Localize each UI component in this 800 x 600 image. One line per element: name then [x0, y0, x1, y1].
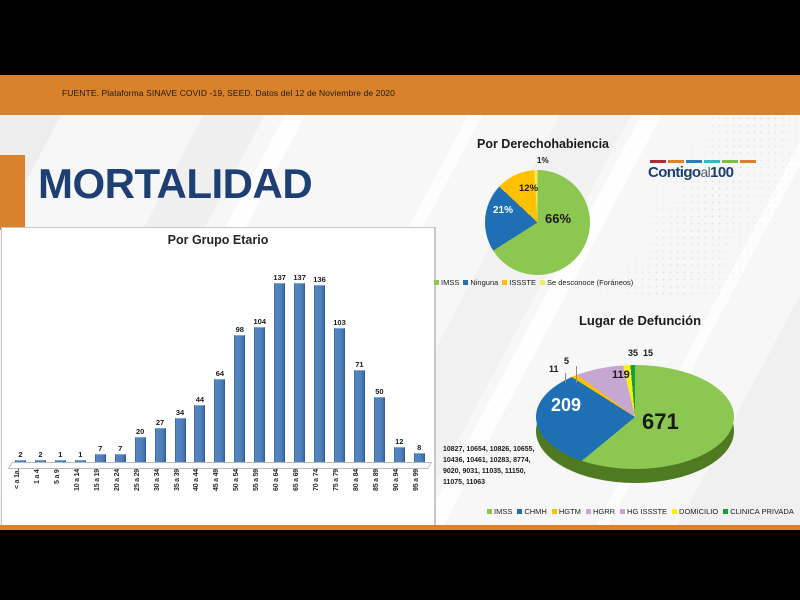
bar-column: 64 [213, 263, 226, 463]
logo-dash [668, 160, 684, 163]
legend-label: IMSS [441, 278, 459, 287]
bar-value-label: 27 [156, 418, 164, 427]
pie1-label-desconoce: 1% [537, 156, 549, 165]
bar-value-label: 44 [196, 395, 204, 404]
derechohabiencia-legend-item: Ninguna [463, 278, 498, 287]
bar-chart-title: Por Grupo Etario [2, 233, 434, 247]
pie1-label-imss: 66% [545, 211, 571, 226]
bar-x-label: 95 a 99 [413, 469, 426, 523]
bar-rect [394, 447, 405, 463]
lugar-defuncion-legend-item: CLINICA PRIVADA [723, 507, 794, 516]
bar-rect [354, 370, 365, 463]
bar-column: 2 [34, 263, 47, 463]
bar-column: 71 [353, 263, 366, 463]
bar-rect [234, 335, 245, 463]
legend-label: HGTM [559, 507, 581, 516]
bar-value-label: 8 [417, 443, 421, 452]
logo-dash [740, 160, 756, 163]
bar-column: 137 [273, 263, 286, 463]
bar-rect [214, 379, 225, 463]
bar-column: 98 [233, 263, 246, 463]
bar-x-label: 70 a 74 [313, 469, 326, 523]
bar-x-label: 40 a 44 [193, 469, 206, 523]
bar-column: 137 [293, 263, 306, 463]
bar-x-label: 25 a 29 [134, 469, 147, 523]
bar-value-label: 137 [273, 273, 286, 282]
bar-value-label: 20 [136, 427, 144, 436]
pie2-label-domicilio: 35 [628, 348, 638, 358]
bar-value-label: 50 [375, 387, 383, 396]
bar-x-label: 20 a 24 [114, 469, 127, 523]
bar-rect [155, 428, 166, 463]
bar-value-label: 2 [18, 450, 22, 459]
lugar-defuncion-annotation: 10827, 10654, 10826, 10655, 10436, 10461… [443, 445, 548, 488]
legend-swatch-icon [586, 509, 591, 514]
derechohabiencia-legend-item: Se desconoce (Foráneos) [540, 278, 633, 287]
legend-swatch-icon [502, 280, 507, 285]
pie2-label-hgtm: 11 [549, 364, 559, 374]
pie2-leader-line-hgrr [576, 366, 577, 383]
legend-swatch-icon [672, 509, 677, 514]
contigo-al-100-logo: Contigoal100 [648, 160, 758, 180]
bar-x-label: 90 a 94 [393, 469, 406, 523]
bar-value-label: 103 [333, 318, 346, 327]
pie2-label-clinica-privada: 15 [643, 348, 653, 358]
bar-value-label: 7 [118, 444, 122, 453]
bar-x-label: 55 a 59 [253, 469, 266, 523]
bar-x-label: 1 a 4 [34, 469, 47, 523]
pie1-label-ninguna: 21% [493, 205, 513, 216]
legend-label: CLINICA PRIVADA [730, 507, 794, 516]
legend-swatch-icon [434, 280, 439, 285]
bar-column: 2 [14, 263, 27, 463]
bar-value-label: 64 [216, 369, 224, 378]
pie2-label-imss: 671 [642, 409, 679, 435]
legend-label: HG ISSSTE [627, 507, 667, 516]
bar-value-label: 7 [98, 444, 102, 453]
bar-value-label: 1 [58, 450, 62, 459]
bar-value-label: 1 [78, 450, 82, 459]
bar-column: 1 [74, 263, 87, 463]
bar-x-label: 50 a 54 [233, 469, 246, 523]
bar-chart-bars: 2211772027344464981041371371361037150128 [14, 263, 426, 463]
logo-dash [686, 160, 702, 163]
derechohabiencia-legend-item: IMSS [434, 278, 459, 287]
slide-canvas: MORTALIDAD Por Grupo Etario 221177202734… [0, 115, 800, 525]
title-accent-bar [0, 155, 25, 230]
derechohabiencia-legend-item: ISSSTE [502, 278, 536, 287]
legend-swatch-icon [487, 509, 492, 514]
logo-dashes [648, 160, 758, 163]
logo-text-100: 100 [710, 164, 733, 181]
bar-column: 1 [54, 263, 67, 463]
bar-value-label: 137 [293, 273, 306, 282]
bar-value-label: 2 [38, 450, 42, 459]
logo-dash [722, 160, 738, 163]
legend-label: Ninguna [470, 278, 498, 287]
derechohabiencia-chart-title: Por Derechohabiencia [443, 137, 643, 151]
logo-text-al: al [700, 164, 710, 180]
bar-rect [135, 437, 146, 463]
bar-value-label: 34 [176, 408, 184, 417]
lugar-defuncion-legend-item: HGRR [586, 507, 615, 516]
bar-column: 7 [94, 263, 107, 463]
derechohabiencia-legend: IMSSNingunaISSSTESe desconoce (Foráneos) [434, 278, 649, 287]
page-title: MORTALIDAD [38, 163, 312, 205]
bar-rect [334, 328, 345, 463]
bar-rect [274, 283, 285, 463]
bar-rect [254, 327, 265, 463]
pie2-label-chmh: 209 [551, 395, 581, 416]
bar-column: 34 [174, 263, 187, 463]
bar-x-label: 75 a 79 [333, 469, 346, 523]
bar-x-label: 10 a 14 [74, 469, 87, 523]
bar-column: 8 [413, 263, 426, 463]
bar-x-label: 60 a 64 [273, 469, 286, 523]
bar-column: 50 [373, 263, 386, 463]
bar-chart-x-axis-labels: < a 1a.1 a 45 a 910 a 1415 a 1920 a 2425… [14, 469, 426, 523]
bar-column: 103 [333, 263, 346, 463]
bar-chart-axis-base [8, 462, 433, 469]
logo-text-contigo: Contigo [648, 164, 700, 181]
bar-column: 12 [393, 263, 406, 463]
lugar-defuncion-legend-item: HG ISSSTE [620, 507, 667, 516]
legend-label: HGRR [593, 507, 615, 516]
bar-column: 136 [313, 263, 326, 463]
bar-rect [314, 285, 325, 463]
bar-x-label: 5 a 9 [54, 469, 67, 523]
lugar-defuncion-legend-item: CHMH [517, 507, 547, 516]
bar-x-label: 30 a 34 [154, 469, 167, 523]
bar-value-label: 71 [355, 360, 363, 369]
bar-column: 20 [134, 263, 147, 463]
legend-swatch-icon [540, 280, 545, 285]
lugar-defuncion-legend: IMSSCHMHHGTMHGRRHG ISSSTEDOMICILIOCLINIC… [487, 507, 800, 516]
slide-viewer: FUENTE. Plataforma SINAVE COVID -19, SEE… [0, 0, 800, 600]
bar-x-label: 15 a 19 [94, 469, 107, 523]
pie2-label-hg-issste: 119 [612, 369, 630, 381]
lugar-defuncion-legend-item: IMSS [487, 507, 512, 516]
legend-swatch-icon [517, 509, 522, 514]
lugar-defuncion-legend-item: DOMICILIO [672, 507, 718, 516]
legend-swatch-icon [552, 509, 557, 514]
legend-label: Se desconoce (Foráneos) [547, 278, 633, 287]
bar-x-label: 35 a 39 [174, 469, 187, 523]
bar-x-label: 65 a 69 [293, 469, 306, 523]
bar-value-label: 12 [395, 437, 403, 446]
legend-label: ISSSTE [509, 278, 536, 287]
legend-label: CHMH [524, 507, 547, 516]
lugar-defuncion-legend-item: HGTM [552, 507, 581, 516]
letterbox-top [0, 0, 800, 75]
bar-x-label: 45 a 49 [213, 469, 226, 523]
bar-x-label: < a 1a. [14, 469, 27, 523]
bar-x-label: 80 a 84 [353, 469, 366, 523]
bar-rect [294, 283, 305, 463]
logo-text: Contigoal100 [648, 165, 758, 180]
bar-chart-panel: Por Grupo Etario 22117720273444649810413… [1, 227, 435, 525]
bar-value-label: 104 [253, 317, 266, 326]
logo-dash [704, 160, 720, 163]
bar-rect [175, 418, 186, 463]
legend-swatch-icon [620, 509, 625, 514]
column-divider [435, 227, 436, 525]
bar-rect [194, 405, 205, 463]
legend-swatch-icon [463, 280, 468, 285]
bar-column: 104 [253, 263, 266, 463]
bar-rect [374, 397, 385, 463]
legend-label: IMSS [494, 507, 512, 516]
logo-dash [650, 160, 666, 163]
bar-column: 27 [154, 263, 167, 463]
legend-label: DOMICILIO [679, 507, 718, 516]
legend-swatch-icon [723, 509, 728, 514]
lugar-defuncion-chart-title: Lugar de Defunción [490, 313, 790, 328]
bar-column: 7 [114, 263, 127, 463]
bar-column: 44 [193, 263, 206, 463]
pie2-leader-line-hgtm [565, 373, 566, 383]
letterbox-bottom [0, 530, 800, 600]
bar-value-label: 98 [236, 325, 244, 334]
pie1-label-issste: 12% [519, 183, 538, 194]
source-text: FUENTE. Plataforma SINAVE COVID -19, SEE… [62, 88, 395, 98]
pie2-label-hgrr: 5 [564, 356, 569, 366]
bar-value-label: 136 [313, 275, 326, 284]
bar-x-label: 85 a 89 [373, 469, 386, 523]
